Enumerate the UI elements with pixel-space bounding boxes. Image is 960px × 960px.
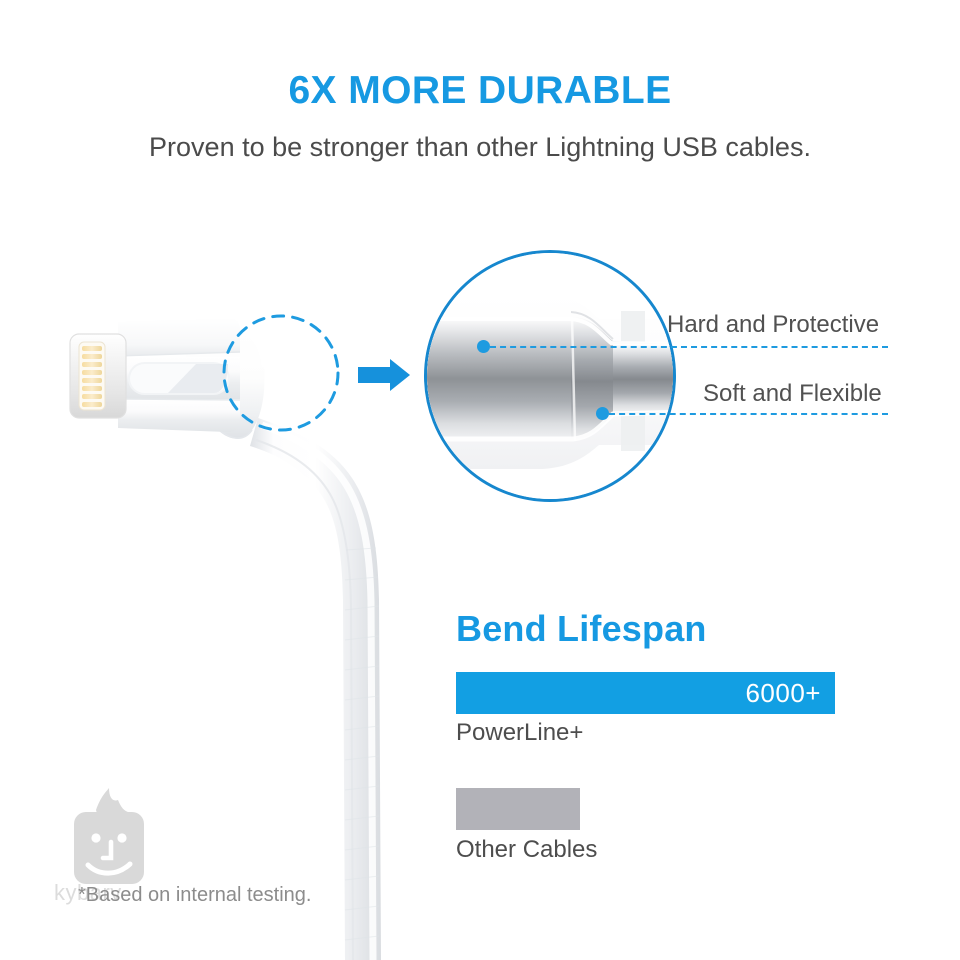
lightning-tip: [70, 334, 126, 418]
bar-other-cables: [456, 788, 580, 830]
bar-label-powerline-plus: PowerLine+: [456, 719, 583, 747]
page-subtitle: Proven to be stronger than other Lightni…: [0, 131, 960, 163]
callout-label-soft: Soft and Flexible: [703, 380, 882, 408]
connector-body: [118, 318, 240, 432]
arrow-right-icon: [358, 359, 410, 391]
dashed-focus-ellipse: [224, 316, 338, 430]
infographic-page: 6X MORE DURABLE Proven to be stronger th…: [0, 0, 960, 960]
braided-cable: [250, 418, 381, 960]
page-title: 6X MORE DURABLE: [0, 70, 960, 113]
magnified-strain-relief: [424, 250, 676, 502]
bar-powerline-plus: 6000+: [456, 672, 835, 714]
strain-relief: [186, 330, 265, 439]
chart-title: Bend Lifespan: [456, 608, 707, 650]
footnote: *Based on internal testing.: [78, 884, 312, 907]
callout-line-soft: [609, 413, 888, 415]
callout-dot-soft: [596, 407, 609, 420]
bar-value-powerline-plus: 6000+: [745, 678, 835, 709]
bar-label-other-cables: Other Cables: [456, 836, 597, 864]
callout-dot-hard: [477, 340, 490, 353]
callout-label-hard: Hard and Protective: [667, 311, 879, 339]
callout-line-hard: [490, 346, 888, 348]
